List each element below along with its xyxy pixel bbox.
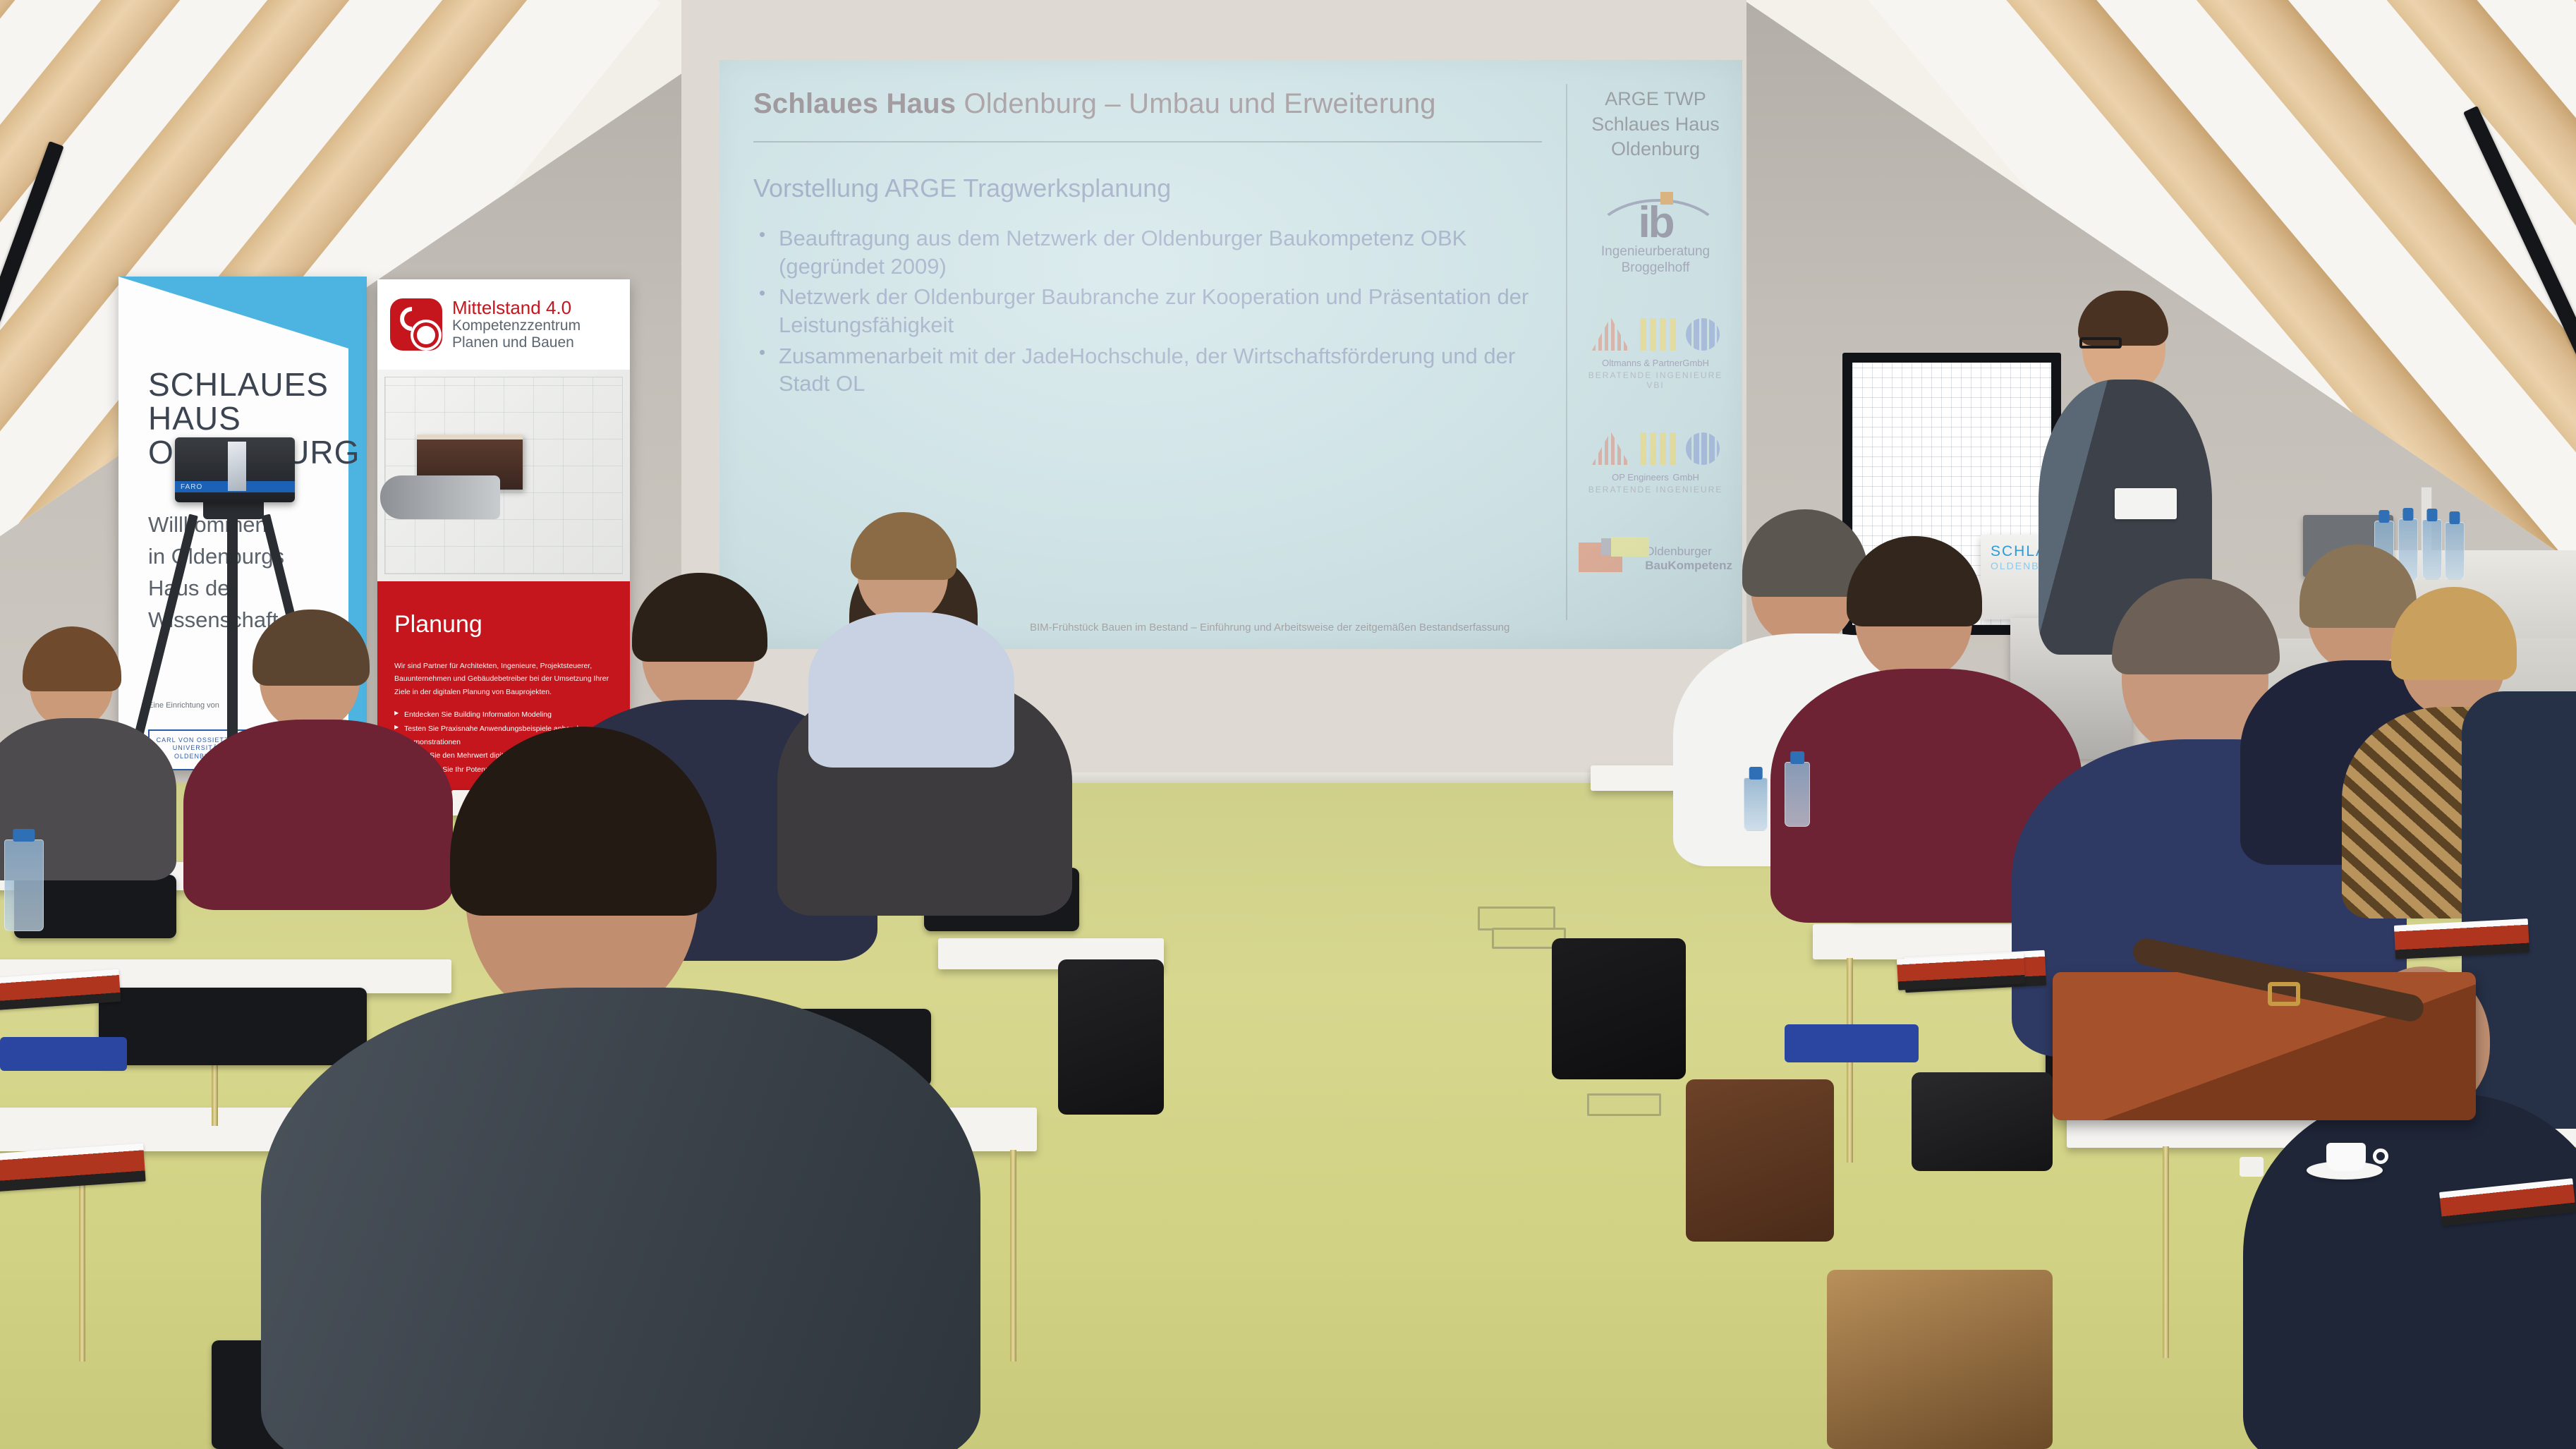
slide-subtitle: Vorstellung ARGE Tragwerksplanung	[753, 174, 1550, 203]
water-bottle	[1785, 762, 1810, 827]
bars-icon	[1640, 432, 1676, 465]
scanner-mirror	[228, 442, 246, 491]
chair-seat[interactable]	[1785, 1024, 1919, 1062]
table-leg	[1010, 1150, 1016, 1362]
audience-hair	[450, 727, 717, 916]
circle-icon	[1686, 432, 1720, 465]
slide-bullet-list: Beauftragung aus dem Netzwerk der Oldenb…	[753, 224, 1550, 398]
creamer-pot	[2240, 1157, 2264, 1177]
slide-bullet-1: Beauftragung aus dem Netzwerk der Oldenb…	[753, 224, 1550, 280]
backpack-black	[1058, 959, 1164, 1115]
audience-torso	[261, 988, 980, 1449]
audience-hair	[253, 610, 370, 686]
water-bottle	[4, 839, 44, 931]
audience-hair	[23, 626, 121, 691]
mittelstand-brand-line3: Planen und Bauen	[452, 334, 581, 351]
op-engineers-sub: BERATENDE INGENIEURE	[1579, 485, 1732, 495]
ib-monogram: ib	[1638, 198, 1672, 248]
triangle-icon	[1592, 431, 1630, 465]
triangle-icon	[1592, 317, 1630, 351]
ib-logo: ib Ingenieurberatung Broggelhoff	[1579, 190, 1732, 277]
slide-footer: BIM-Frühstück Bauen im Bestand – Einführ…	[1030, 622, 1509, 633]
chair-seat[interactable]	[0, 1037, 127, 1071]
mittelstand-header: Mittelstand 4.0 Kompetenzzentrum Planen …	[377, 279, 630, 370]
slide-bullet-2: Netzwerk der Oldenburger Baubranche zur …	[753, 283, 1550, 339]
mittelstand-logo-icon	[390, 298, 442, 351]
floor-socket-box	[1478, 907, 1555, 930]
bars-icon	[1640, 318, 1676, 351]
brochure[interactable]	[1897, 952, 2025, 990]
table-leg	[2163, 1146, 2169, 1358]
floor-socket-box	[1587, 1093, 1661, 1116]
op-engineers-logo: OP Engineers GmbH BERATENDE INGENIEURE	[1579, 423, 1732, 495]
op-engineers-name: OP Engineers GmbH	[1579, 468, 1732, 485]
slide-sidebar-heading: ARGE TWP Schlaues Haus Oldenburg	[1579, 87, 1732, 162]
brochure[interactable]	[2394, 918, 2529, 959]
jacket-on-chair	[1827, 1270, 2053, 1449]
audience-hair	[851, 512, 956, 580]
presentation-room-photo: Schlaues Haus Oldenburg – Umbau und Erwe…	[0, 0, 2576, 1449]
slide-main-column: Schlaues Haus Oldenburg – Umbau und Erwe…	[753, 88, 1550, 401]
audience-member	[811, 522, 1009, 755]
banner-accent-shape	[119, 277, 367, 354]
water-bottle	[1744, 777, 1768, 831]
slide-title-rule	[753, 141, 1542, 143]
obk-blocks-icon	[1579, 528, 1639, 572]
slide-title: Schlaues Haus Oldenburg – Umbau und Erwe…	[753, 88, 1550, 120]
faro-brand-label: FARO	[181, 483, 202, 491]
presenter-name-badge	[2115, 488, 2177, 519]
laptop-bag-black	[1552, 938, 1686, 1079]
mittelstand-brand-line1: Mittelstand 4.0	[452, 298, 581, 318]
oltmanns-sub: BERATENDE INGENIEURE VBI	[1579, 370, 1732, 390]
audience-torso	[808, 612, 1014, 768]
oltmanns-name: Oltmanns & PartnerGmbH	[1579, 354, 1732, 370]
slide-vertical-divider	[1566, 84, 1567, 620]
audience-member-foreground	[268, 748, 980, 1449]
audience-hair	[2391, 587, 2517, 680]
oltmanns-partner-logo: Oltmanns & PartnerGmbH BERATENDE INGENIE…	[1579, 308, 1732, 390]
bag-buckle-icon	[2268, 982, 2300, 1006]
faro-laser-scanner: FARO	[175, 437, 295, 502]
audience-torso	[2243, 1093, 2576, 1449]
briefcase-brown	[1686, 1079, 1834, 1242]
circle-icon	[1686, 318, 1720, 351]
mittelstand-brand-line2: Kompetenzzentrum	[452, 317, 581, 334]
slide-sidebar: ARGE TWP Schlaues Haus Oldenburg ib Inge…	[1579, 87, 1732, 572]
audience-hair	[1847, 536, 1982, 626]
duffel-bag	[1912, 1072, 2053, 1171]
audience-hair	[632, 573, 767, 662]
banner-photo-building-model	[377, 370, 630, 581]
presenter-glasses-icon	[2079, 337, 2122, 348]
slide-bullet-3: Zusammenarbeit mit der JadeHochschule, d…	[753, 342, 1550, 398]
coffee-cup	[2321, 1134, 2384, 1174]
